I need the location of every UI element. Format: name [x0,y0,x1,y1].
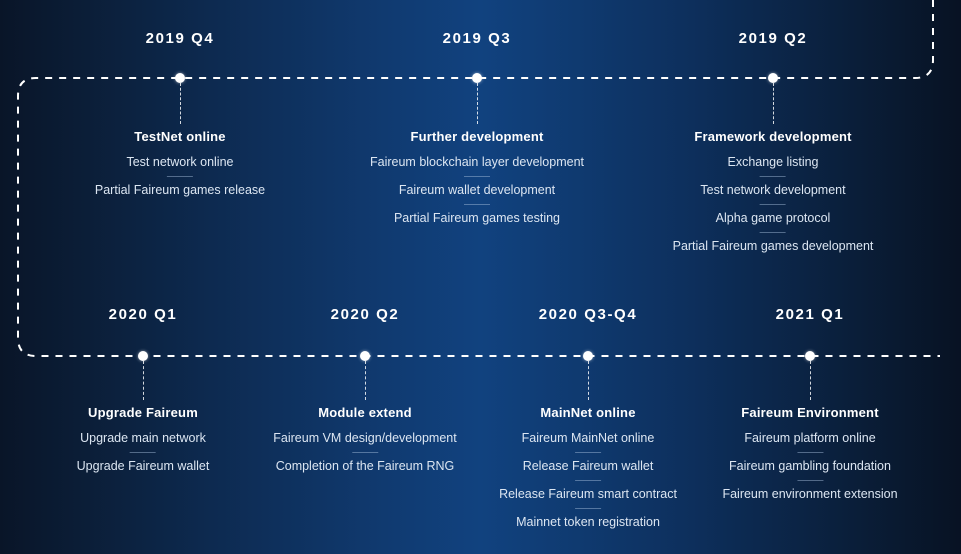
milestone-dot-icon[interactable] [768,73,778,83]
quarter-label: 2019 Q4 [146,30,215,47]
quarter-label: 2021 Q1 [776,306,845,323]
milestone-dot-icon[interactable] [472,73,482,83]
milestone-item: Partial Faireum games testing [370,210,584,227]
milestone-item: Faireum gambling foundation [722,458,897,475]
milestone-item: Test network online [95,154,265,171]
quarter-label: 2020 Q2 [331,306,400,323]
item-divider [575,480,601,481]
milestone-stem [365,361,367,400]
milestone-item: Upgrade main network [77,430,210,447]
item-divider [575,452,601,453]
milestone-item: Faireum wallet development [370,182,584,199]
item-divider [760,176,786,177]
milestone-block: Module extendFaireum VM design/developme… [273,405,456,475]
milestone-dot-icon[interactable] [583,351,593,361]
milestone-title: Module extend [273,405,456,421]
milestone-item: Faireum platform online [722,430,897,447]
milestone-item: Upgrade Faireum wallet [77,458,210,475]
item-divider [130,452,156,453]
milestone-stem [477,83,479,124]
milestone-title: Faireum Environment [722,405,897,421]
quarter-label: 2019 Q2 [739,30,808,47]
quarter-label: 2020 Q1 [109,306,178,323]
milestone-dot-icon[interactable] [360,351,370,361]
milestone-stem [180,83,182,124]
milestone-title: MainNet online [499,405,677,421]
milestone-item: Faireum VM design/development [273,430,456,447]
milestone-block: Faireum EnvironmentFaireum platform onli… [722,405,897,503]
milestone-stem [810,361,812,400]
milestone-stem [773,83,775,124]
milestone-block: Framework developmentExchange listingTes… [673,129,874,255]
milestone-item: Partial Faireum games development [673,238,874,255]
roadmap-canvas: 2019 Q4TestNet onlineTest network online… [0,0,961,554]
milestone-block: Upgrade FaireumUpgrade main networkUpgra… [77,405,210,475]
milestone-item: Release Faireum smart contract [499,486,677,503]
item-divider [167,176,193,177]
milestone-item: Faireum blockchain layer development [370,154,584,171]
milestone-stem [588,361,590,400]
item-divider [575,508,601,509]
milestone-title: Framework development [673,129,874,145]
item-divider [464,204,490,205]
milestone-item: Partial Faireum games release [95,182,265,199]
quarter-label: 2020 Q3-Q4 [539,306,638,323]
milestone-item: Completion of the Faireum RNG [273,458,456,475]
milestone-block: MainNet onlineFaireum MainNet onlineRele… [499,405,677,531]
milestone-item: Test network development [673,182,874,199]
milestone-title: TestNet online [95,129,265,145]
item-divider [760,204,786,205]
milestone-item: Exchange listing [673,154,874,171]
item-divider [797,452,823,453]
milestone-dot-icon[interactable] [805,351,815,361]
item-divider [464,176,490,177]
milestone-block: TestNet onlineTest network onlinePartial… [95,129,265,199]
item-divider [352,452,378,453]
quarter-label: 2019 Q3 [443,30,512,47]
item-divider [797,480,823,481]
milestone-item: Mainnet token registration [499,514,677,531]
milestone-item: Alpha game protocol [673,210,874,227]
milestone-block: Further developmentFaireum blockchain la… [370,129,584,227]
milestone-stem [143,361,145,400]
milestone-title: Upgrade Faireum [77,405,210,421]
milestone-dot-icon[interactable] [175,73,185,83]
milestone-item: Faireum environment extension [722,486,897,503]
item-divider [760,232,786,233]
milestone-dot-icon[interactable] [138,351,148,361]
milestone-title: Further development [370,129,584,145]
milestone-item: Faireum MainNet online [499,430,677,447]
milestone-item: Release Faireum wallet [499,458,677,475]
